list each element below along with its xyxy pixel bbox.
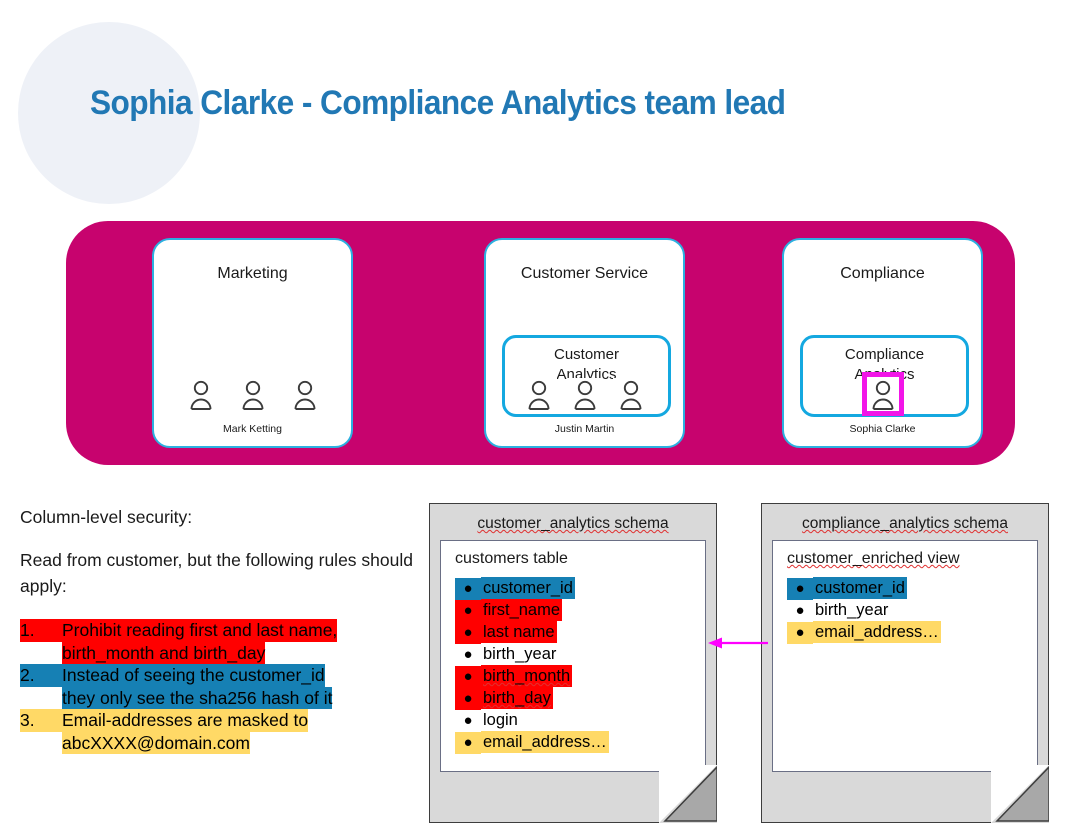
- person-icon: [291, 380, 319, 410]
- rule-text-line2: they only see the sha256 hash of it: [62, 687, 332, 710]
- field-list: ●customer_id ●birth_year ●email_address…: [787, 577, 1029, 643]
- rule-row: birth_month and birth_day: [20, 642, 415, 665]
- person-icon: [525, 380, 553, 410]
- rule-text-line2: abcXXXX@domain.com: [62, 732, 250, 755]
- analytics-label-line1: Compliance: [845, 346, 924, 363]
- analytics-label-line1: Customer: [554, 346, 619, 363]
- field-row: ●login: [455, 709, 697, 731]
- field-row: ●birth_month: [455, 665, 697, 687]
- bullet-icon: ●: [455, 600, 481, 622]
- notes-heading: Column-level security:: [20, 505, 415, 530]
- rule-row: they only see the sha256 hash of it: [20, 687, 415, 710]
- field-row: ●last name: [455, 621, 697, 643]
- table-name: customers table: [455, 550, 568, 568]
- field-row: ●birth_year: [787, 599, 1029, 621]
- view-name: customer_enriched view: [787, 550, 960, 568]
- field-row: ●email_address…: [455, 731, 697, 753]
- notes-column: Column-level security: Read from custome…: [20, 505, 415, 754]
- document-body: customers table ●customer_id ●first_name…: [440, 540, 706, 772]
- dept-owner: Mark Ketting: [154, 423, 351, 435]
- people-row: [486, 378, 683, 412]
- rule-item: 1. Prohibit reading first and last name,…: [20, 619, 415, 664]
- field-name: first_name: [481, 599, 562, 621]
- field-name: email_address…: [481, 731, 609, 753]
- slide-canvas: Sophia Clarke - Compliance Analytics tea…: [0, 0, 1082, 838]
- rule-number: 2.: [20, 664, 62, 687]
- dept-title: Marketing: [154, 265, 351, 283]
- rule-number: 1.: [20, 619, 62, 642]
- field-row: ●first_name: [455, 599, 697, 621]
- rule-row: 1. Prohibit reading first and last name,: [20, 619, 415, 642]
- field-name: last name: [481, 621, 557, 643]
- field-name: customer_id: [813, 577, 907, 599]
- field-name: email_address…: [813, 621, 941, 643]
- dept-owner: Justin Martin: [486, 423, 683, 435]
- field-name: birth_month: [481, 665, 572, 687]
- document-body: customer_enriched view ●customer_id ●bir…: [772, 540, 1038, 772]
- rule-text-line2: birth_month and birth_day: [62, 642, 265, 665]
- bullet-icon: ●: [455, 710, 481, 732]
- field-row: ●email_address…: [787, 621, 1029, 643]
- rule-row: 3. Email-addresses are masked to: [20, 709, 415, 732]
- bullet-icon: ●: [455, 622, 481, 644]
- document-customer-analytics-schema[interactable]: customer_analytics schema customers tabl…: [429, 503, 717, 823]
- field-row: ●customer_id: [455, 577, 697, 599]
- dept-owner: Sophia Clarke: [784, 423, 981, 435]
- bullet-icon: ●: [787, 600, 813, 622]
- dept-card-compliance[interactable]: Compliance Compliance Analytics Sophia C…: [782, 238, 983, 448]
- document-title: compliance_analytics schema: [762, 515, 1048, 533]
- person-icon-highlighted[interactable]: [869, 380, 897, 410]
- rule-number: 3.: [20, 709, 62, 732]
- org-panel: Marketing Mark Ketting Customer Service …: [66, 221, 1015, 465]
- document-title-text: customer_analytics schema: [477, 515, 668, 532]
- people-row: [154, 378, 351, 412]
- field-row: ●birth_year: [455, 643, 697, 665]
- notes-intro: Read from customer, but the following ru…: [20, 548, 415, 599]
- rule-text-line1: Instead of seeing the customer_id: [62, 664, 325, 687]
- page-title: Sophia Clarke - Compliance Analytics tea…: [90, 84, 785, 123]
- bullet-icon: ●: [455, 688, 481, 710]
- bullet-icon: ●: [455, 732, 481, 754]
- dept-title: Customer Service: [486, 265, 683, 283]
- document-title-text: compliance_analytics schema: [802, 515, 1008, 532]
- field-name: birth_day: [481, 687, 553, 709]
- person-icon: [187, 380, 215, 410]
- page-fold-icon: [991, 765, 1049, 823]
- rule-row: 2. Instead of seeing the customer_id: [20, 664, 415, 687]
- rule-item: 3. Email-addresses are masked to abcXXXX…: [20, 709, 415, 754]
- page-fold-icon: [659, 765, 717, 823]
- field-list: ●customer_id ●first_name ●last name ●bir…: [455, 577, 697, 753]
- dept-card-marketing[interactable]: Marketing Mark Ketting: [152, 238, 353, 448]
- field-name: customer_id: [481, 577, 575, 599]
- rule-row: abcXXXX@domain.com: [20, 732, 415, 755]
- dept-card-customer-service[interactable]: Customer Service Customer Analytics Just…: [484, 238, 685, 448]
- document-compliance-analytics-schema[interactable]: compliance_analytics schema customer_enr…: [761, 503, 1049, 823]
- field-name: login: [481, 709, 520, 731]
- field-row: ●birth_day: [455, 687, 697, 709]
- field-name: birth_year: [813, 599, 890, 621]
- rule-item: 2. Instead of seeing the customer_id the…: [20, 664, 415, 709]
- rules-list: 1. Prohibit reading first and last name,…: [20, 619, 415, 754]
- bullet-icon: ●: [455, 578, 481, 600]
- bullet-icon: ●: [455, 644, 481, 666]
- field-name: birth_year: [481, 643, 558, 665]
- spacer: [20, 530, 415, 548]
- people-row: [784, 378, 981, 412]
- person-icon: [571, 380, 599, 410]
- document-title: customer_analytics schema: [430, 515, 716, 533]
- bullet-icon: ●: [787, 622, 813, 644]
- rule-text-line1: Email-addresses are masked to: [62, 709, 308, 732]
- schema-arrow-icon: [706, 636, 768, 650]
- person-icon: [617, 380, 645, 410]
- person-icon: [239, 380, 267, 410]
- bullet-icon: ●: [455, 666, 481, 688]
- rule-text-line1: Prohibit reading first and last name,: [62, 619, 337, 642]
- bullet-icon: ●: [787, 578, 813, 600]
- field-row: ●customer_id: [787, 577, 1029, 599]
- dept-title: Compliance: [784, 265, 981, 283]
